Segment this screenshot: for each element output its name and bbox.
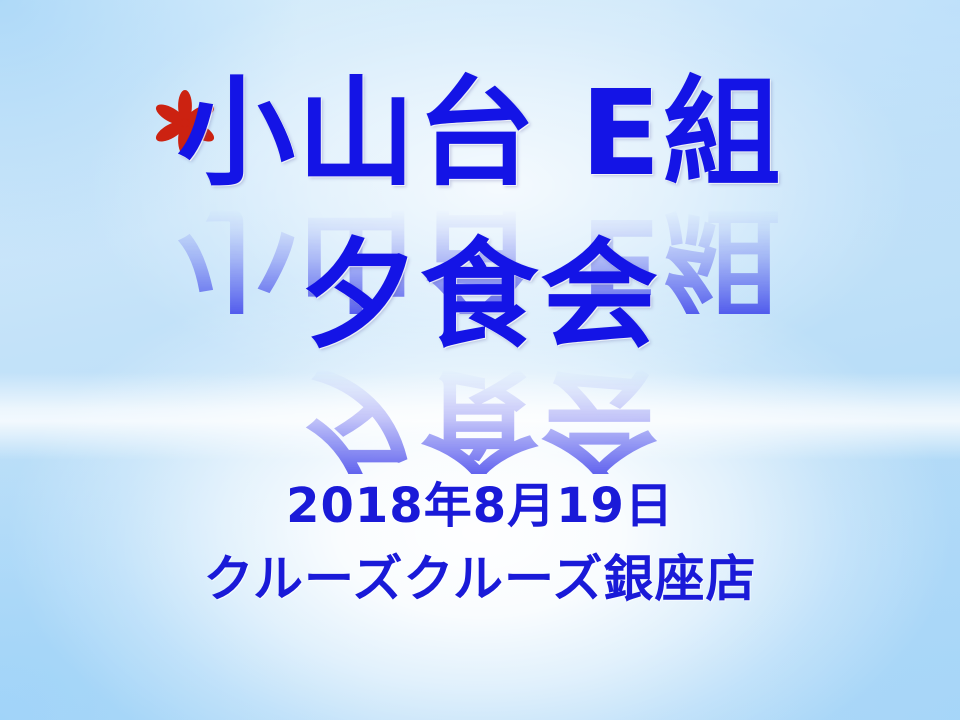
title-line-1-text: 小山台 E組 [177,74,783,192]
title-line-2: 夕食会 夕食会 [0,236,960,362]
background-horizon-band [0,372,960,460]
event-venue: クルーズクルーズ銀座店 [0,554,960,604]
title-slide: 小山台 E組 小山台 E組 夕食会 夕食会 2018年8月19日 クルーズクルー… [0,0,960,720]
title-line-2-text: 夕食会 [300,236,660,354]
title-line-1: 小山台 E組 小山台 E組 [0,74,960,202]
event-date: 2018年8月19日 [0,482,960,530]
title-block: 小山台 E組 小山台 E組 夕食会 夕食会 [0,74,960,362]
subtitle-block: 2018年8月19日 クルーズクルーズ銀座店 [0,482,960,604]
